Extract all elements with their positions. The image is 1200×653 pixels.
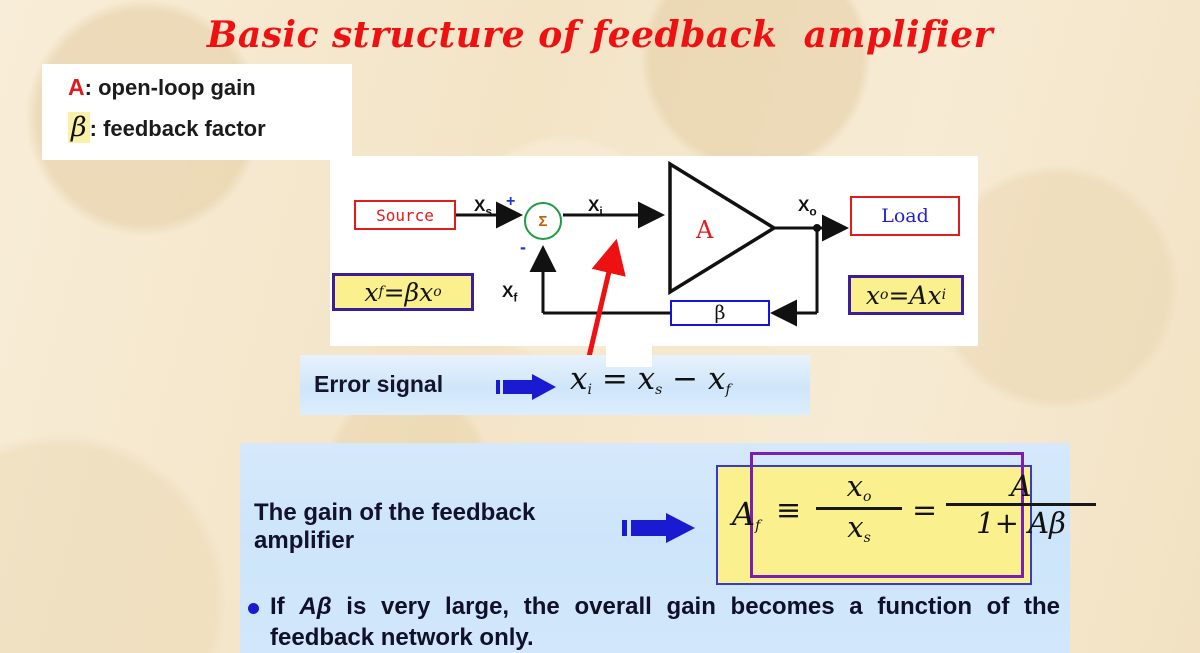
blue-block-arrow-icon-error: [496, 373, 558, 401]
legend-separator-a: :: [85, 75, 98, 100]
legend-separator-beta: :: [90, 116, 103, 141]
gain-description: The gain of the feedback amplifier: [254, 499, 614, 556]
error-signal-label: Error signal: [314, 371, 443, 398]
legend-item-feedback-factor: β: feedback factor: [68, 112, 266, 143]
block-diagram-panel: A Source Load β Σ + - Xs Xi Xo Xf: [330, 156, 978, 346]
fraction-2-numerator: A: [946, 471, 1096, 501]
gain-summary-panel: The gain of the feedback amplifier Af ≡ …: [240, 443, 1070, 653]
formula-box-feedback: xf = βxo: [332, 273, 474, 311]
legend-item-open-loop-gain: A: open-loop gain: [68, 74, 256, 101]
feedback-network-block: β: [670, 300, 770, 326]
error-signal-panel: Error signal xi = xs − xf: [300, 355, 810, 415]
gain-formula-fraction-1: xo xs: [816, 471, 902, 546]
source-block-label: Source: [356, 202, 454, 228]
gain-formula-equiv: ≡: [776, 493, 801, 528]
load-block-label: Load: [852, 198, 958, 234]
source-block: Source: [354, 200, 456, 230]
page-title: Basic structure of feedback amplifier: [0, 14, 1200, 56]
bullet-marker-icon: [248, 603, 259, 614]
blue-block-arrow-icon-gain: [622, 511, 698, 545]
error-signal-equation: xi = xs − xf: [570, 361, 731, 398]
load-block: Load: [850, 196, 960, 236]
gain-formula-equals: =: [912, 493, 937, 528]
signal-label-xs: Xs: [474, 196, 492, 218]
gain-formula-lhs: Af: [732, 495, 760, 534]
fraction-2-denominator: 1+ Aβ: [946, 508, 1096, 540]
bullet-text: If Aβ is very large, the overall gain be…: [270, 591, 1060, 653]
signal-label-xi: Xi: [588, 196, 603, 218]
gain-description-line2: amplifier: [254, 527, 614, 555]
gain-description-line1: The gain of the feedback: [254, 499, 614, 527]
legend-panel: A: open-loop gain β: feedback factor: [42, 64, 352, 160]
formula-box-output: xo = Axi: [848, 275, 964, 315]
gain-formula-fraction-2: A 1+ Aβ: [946, 471, 1096, 540]
feedback-network-label: β: [672, 302, 768, 324]
plus-sign: +: [506, 193, 515, 211]
minus-sign: -: [520, 244, 526, 250]
fraction-1-numerator: xo: [816, 471, 902, 505]
diagram-wires: A: [330, 156, 978, 346]
legend-symbol-beta: β: [68, 112, 90, 143]
legend-symbol-a: A: [68, 74, 85, 100]
amplifier-label: A: [695, 216, 714, 244]
signal-label-xo: Xo: [798, 196, 817, 218]
legend-definition-a: open-loop gain: [98, 75, 256, 100]
legend-definition-beta: feedback factor: [103, 116, 266, 141]
signal-label-xf: Xf: [502, 282, 517, 304]
fraction-1-denominator: xs: [816, 512, 902, 546]
